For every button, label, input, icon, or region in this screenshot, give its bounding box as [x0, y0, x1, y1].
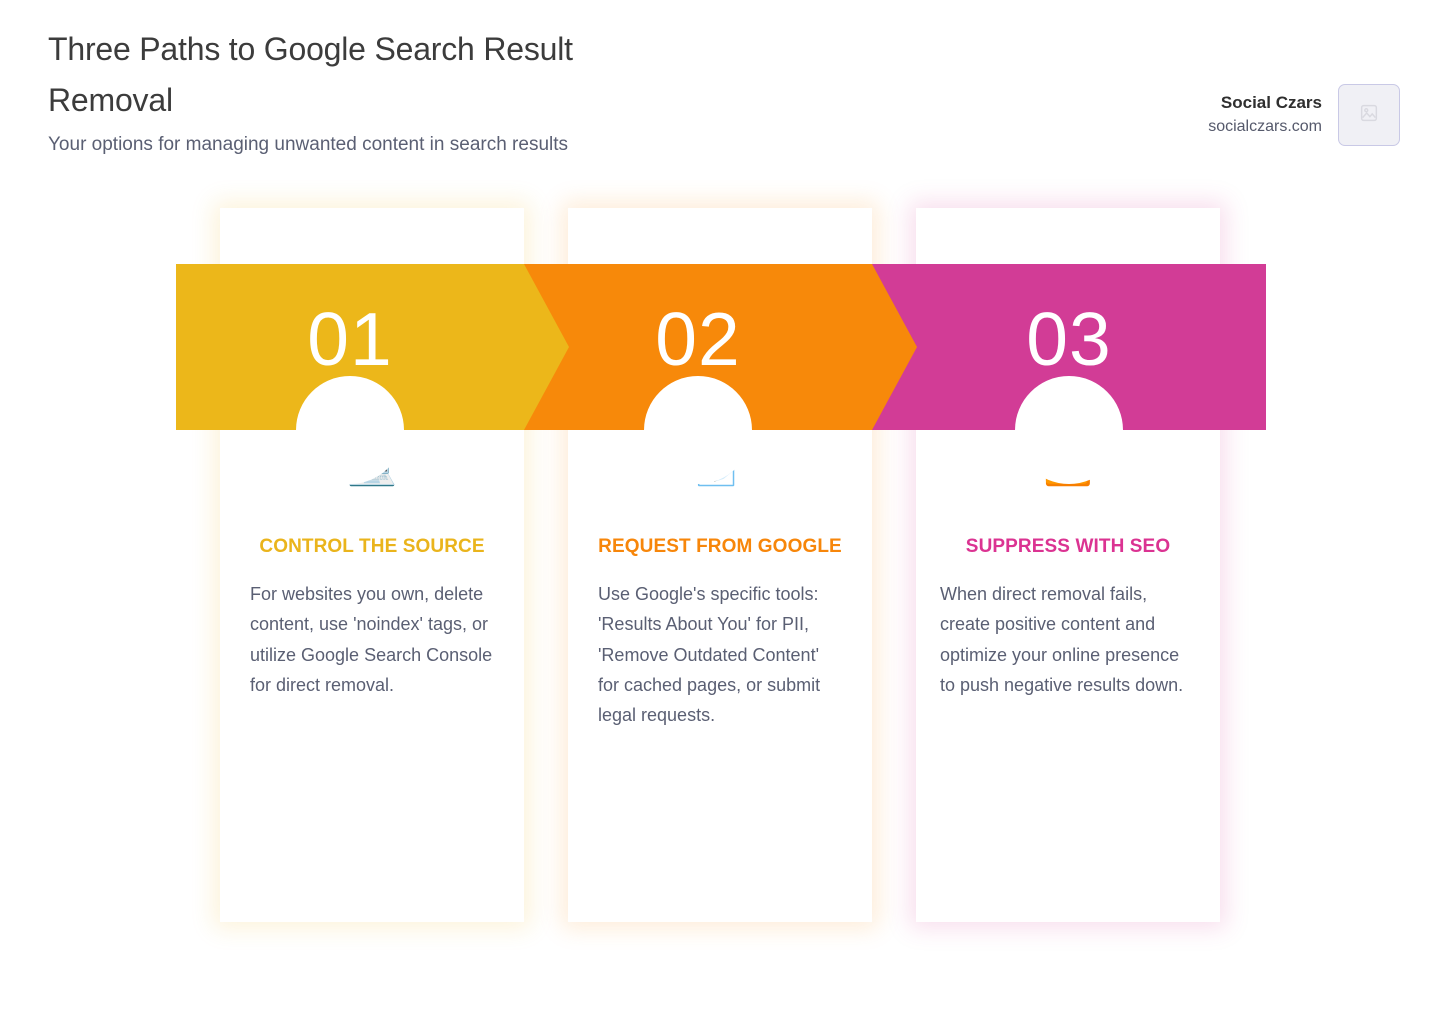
step-title-3: SUPPRESS WITH SEO	[944, 532, 1192, 561]
step-title-1: CONTROL THE SOURCE	[237, 532, 506, 561]
brand-block: Social Czars socialczars.com	[1208, 84, 1400, 146]
step-number-1: 01	[307, 302, 392, 377]
step-chevron-banner: 01 02 03	[176, 264, 1266, 430]
brand-name: Social Czars	[1208, 91, 1322, 116]
header: Three Paths to Google Search Result Remo…	[0, 0, 1440, 161]
chevron-notch-2	[644, 376, 752, 484]
chevron-segment-3: 03	[872, 264, 1266, 430]
step-body-3: When direct removal fails, create positi…	[916, 579, 1220, 699]
infographic-page: Three Paths to Google Search Result Remo…	[0, 0, 1440, 1024]
page-subtitle: Your options for managing unwanted conte…	[48, 130, 618, 161]
chevron-notch-1	[296, 376, 404, 484]
step-body-2: Use Google's specific tools: 'Results Ab…	[568, 579, 872, 729]
brand-url: socialczars.com	[1208, 116, 1322, 138]
step-number-2: 02	[655, 302, 740, 377]
step-number-3: 03	[1026, 302, 1111, 377]
broken-image-placeholder-icon	[1358, 102, 1380, 129]
chevron-segment-1: 01	[176, 264, 524, 430]
header-text-block: Three Paths to Google Search Result Remo…	[48, 24, 688, 161]
step-title-2: REQUEST FROM GOOGLE	[576, 532, 864, 561]
page-title: Three Paths to Google Search Result Remo…	[48, 24, 688, 126]
brand-text: Social Czars socialczars.com	[1208, 91, 1322, 138]
step-body-1: For websites you own, delete content, us…	[220, 579, 524, 699]
chevron-notch-3	[1015, 376, 1123, 484]
chevron-segment-2: 02	[524, 264, 872, 430]
brand-logo-placeholder	[1338, 84, 1400, 146]
